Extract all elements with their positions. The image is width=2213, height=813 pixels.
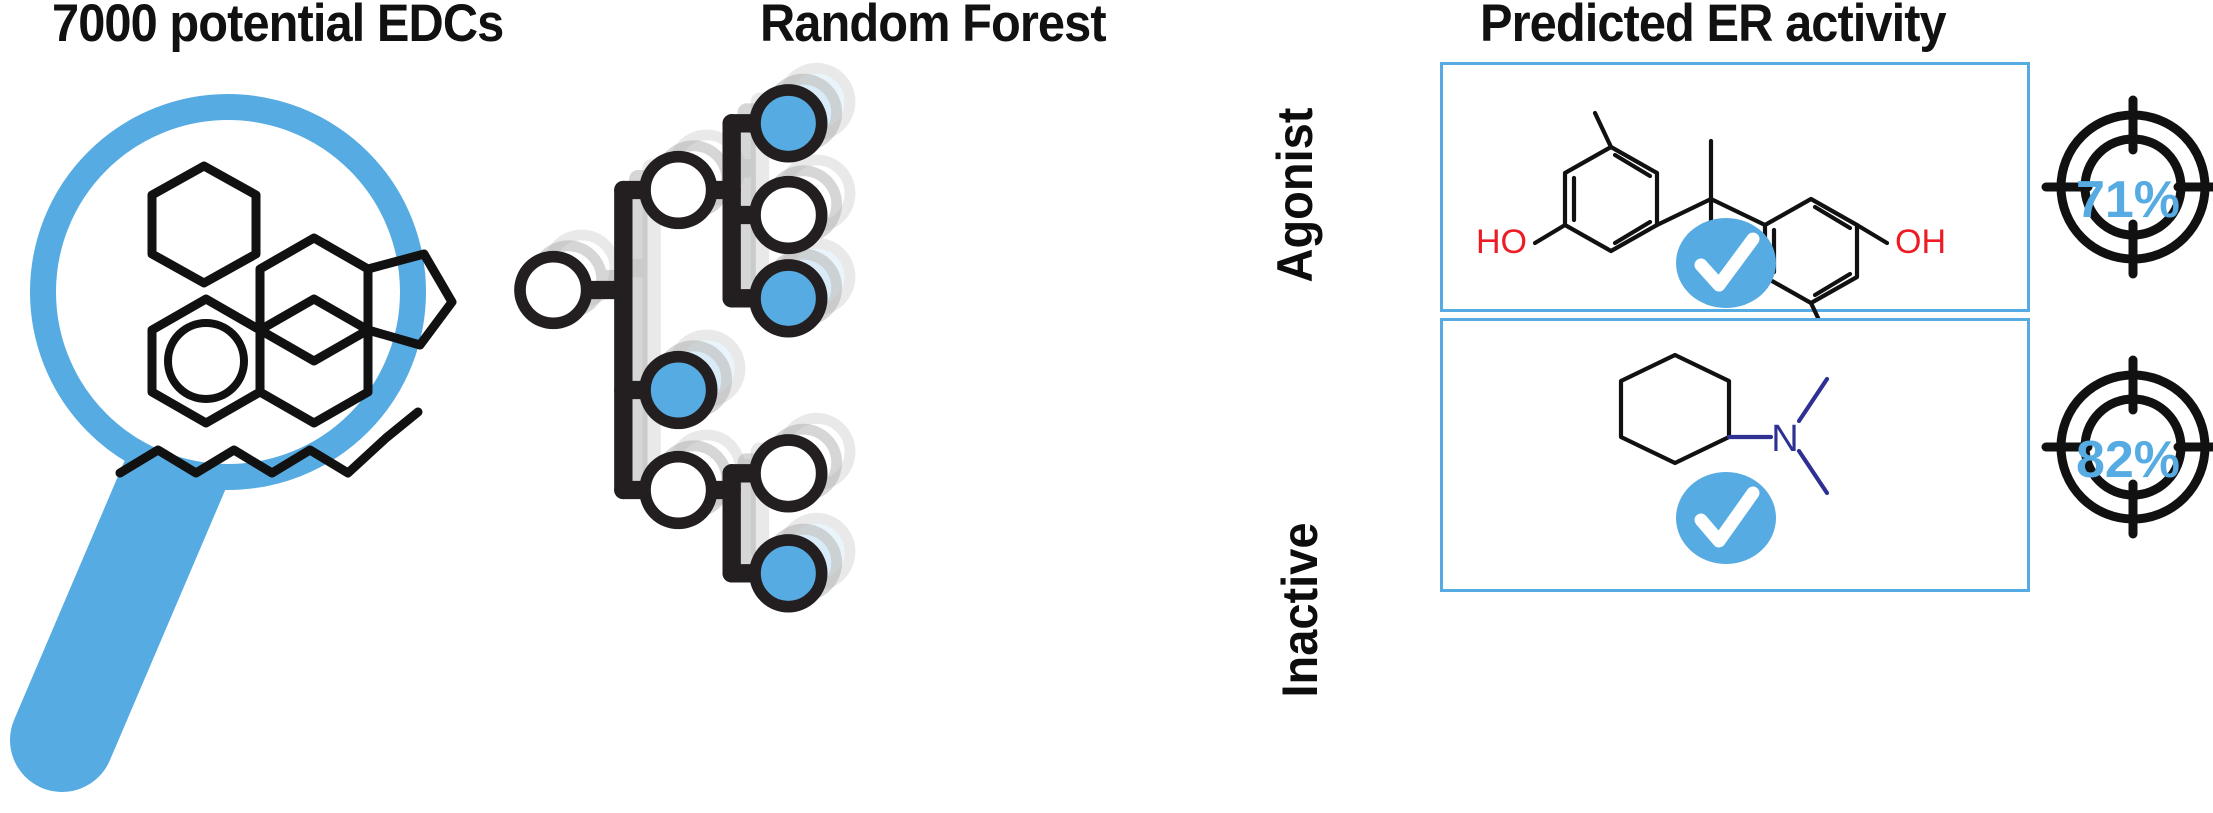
tree-node-lower (645, 457, 712, 524)
row-label-agonist: Agonist (1270, 87, 1320, 303)
tree-leaf-1 (755, 90, 822, 157)
tree-leaf-2 (755, 182, 822, 249)
panel-random-forest (470, 40, 890, 640)
tree-leaf-4 (755, 440, 822, 507)
molecule-dimethylcyclohexylamine (1621, 355, 1729, 463)
hydroxyl-label-left: HO (1476, 223, 1527, 261)
tree-node-up (645, 157, 712, 224)
check-badge-agonist (1671, 217, 1781, 309)
row-label-inactive: Inactive (1275, 497, 1325, 723)
tree-node-root (520, 257, 587, 324)
panel-predicted-er-activity: Agonist Inactive (1240, 40, 2213, 813)
prediction-card-inactive: N (1440, 318, 2030, 592)
panel-potential-edcs (0, 40, 540, 810)
magnifier-lens-ring (43, 107, 413, 477)
tree-leaf-5 (755, 540, 822, 607)
prediction-card-agonist: HO OH (1440, 62, 2030, 312)
nitrogen-label: N (1771, 418, 1798, 460)
percent-agonist: 71% (2048, 170, 2208, 230)
tree-leaf-3 (755, 265, 822, 332)
tree-node-down (645, 357, 712, 424)
percent-inactive: 82% (2048, 430, 2208, 490)
hydroxyl-label-right: OH (1895, 223, 1946, 261)
magnifier-handle (62, 440, 190, 740)
graphical-abstract: 7000 potential EDCs Random Forest Predic… (0, 0, 2213, 813)
check-badge-inactive (1671, 471, 1781, 565)
